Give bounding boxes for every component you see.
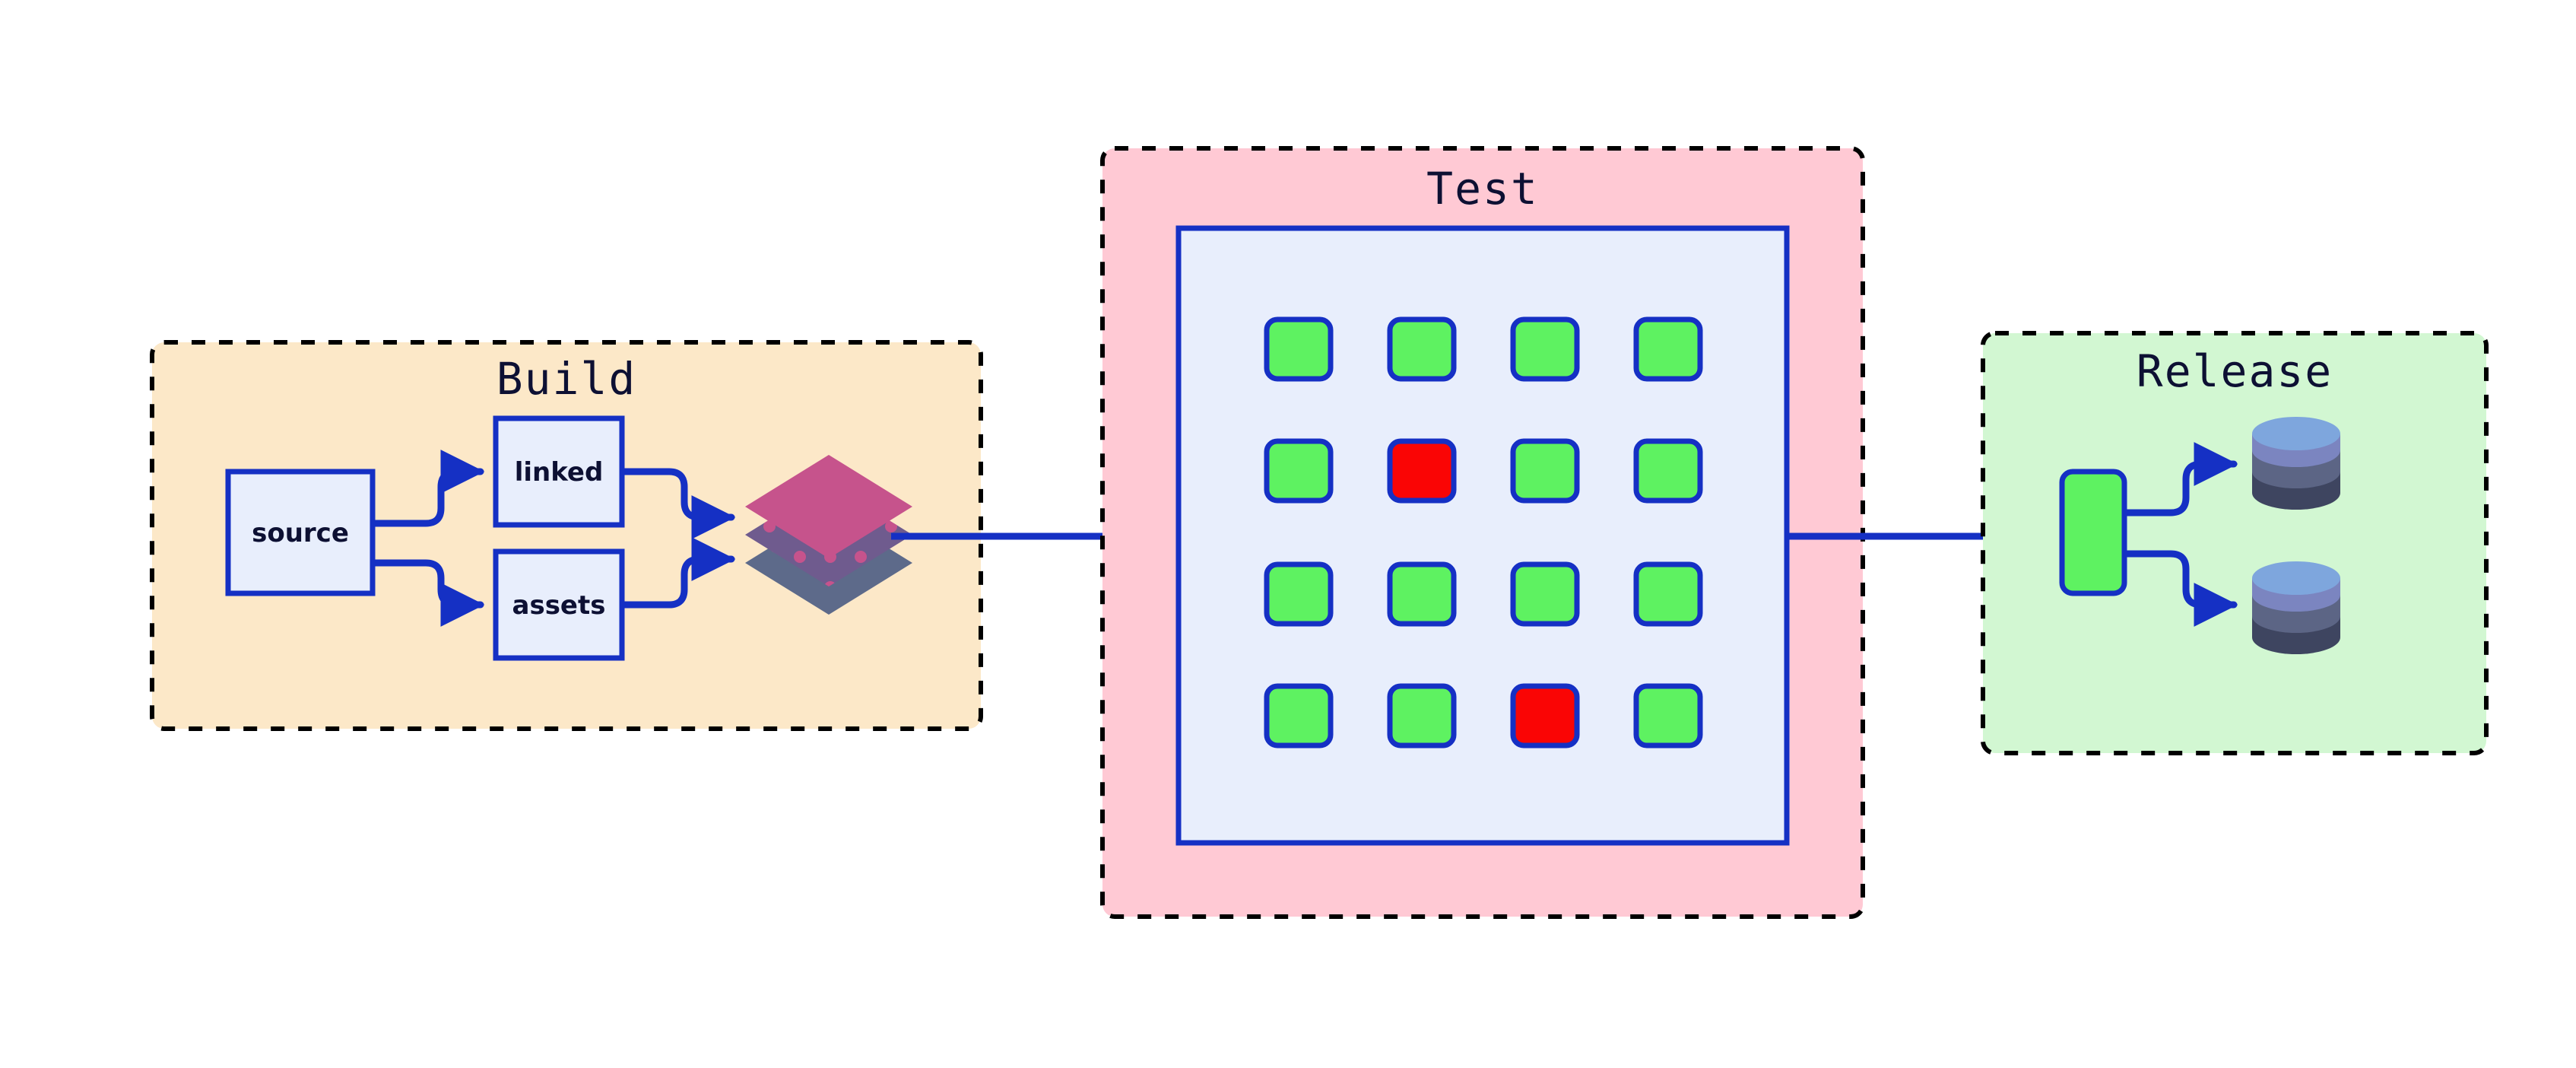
release-gate-box[interactable] [2062,472,2124,593]
test-cell[interactable] [1636,441,1700,501]
release-gate[interactable] [2062,472,2124,593]
test-cell[interactable] [1513,564,1577,624]
test-cell[interactable] [1636,564,1700,624]
pipeline-diagram: Build source linked assets [0,0,2576,1068]
database-cylinder-icon[interactable] [2252,561,2340,654]
test-cell[interactable] [1636,686,1700,745]
database-1-top [2252,417,2340,450]
group-release: Release [1983,333,2486,753]
node-source-label: source [252,518,349,548]
group-test-title: Test [1426,163,1539,215]
node-linked[interactable]: linked [496,418,622,525]
test-cell[interactable] [1267,441,1331,501]
test-cell[interactable] [1513,319,1577,379]
test-cell[interactable] [1267,564,1331,624]
database-cylinder-icon[interactable] [2252,417,2340,510]
node-assets[interactable]: assets [496,551,622,658]
node-assets-label: assets [512,590,606,621]
node-source[interactable]: source [228,472,373,593]
test-cell[interactable] [1390,319,1454,379]
test-cell[interactable] [1636,319,1700,379]
group-release-title: Release [2137,345,2333,397]
test-cell[interactable] [1267,686,1331,745]
node-linked-label: linked [515,457,604,488]
test-cell[interactable] [1390,686,1454,745]
test-cell[interactable] [1390,564,1454,624]
database-2-top [2252,561,2340,595]
test-cell[interactable] [1267,319,1331,379]
test-cell[interactable] [1513,441,1577,501]
diagram-canvas: Build source linked assets [0,0,2576,1068]
group-build-title: Build [496,353,637,405]
test-cell-failed[interactable] [1513,686,1577,745]
test-cell-failed[interactable] [1390,441,1454,501]
